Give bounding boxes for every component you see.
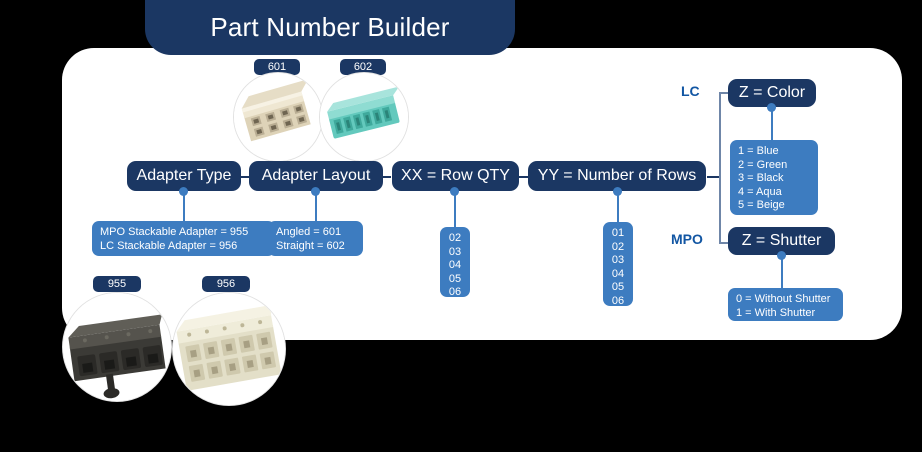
detail-adapter-type: MPO Stackable Adapter = 955 LC Stackable… xyxy=(92,221,275,256)
page-title: Part Number Builder xyxy=(210,12,449,43)
flow-connector-2 xyxy=(382,176,391,178)
flow-drop-line-4 xyxy=(617,191,619,222)
branch-label: Z = Shutter xyxy=(742,232,822,250)
badge-956: 956 xyxy=(202,276,250,292)
photo-955 xyxy=(62,292,172,402)
branch-side-label-mpo: MPO xyxy=(671,231,703,247)
branch-side-label-lc: LC xyxy=(681,83,700,99)
photo-602 xyxy=(319,72,409,162)
branch-bracket-vertical xyxy=(719,92,721,244)
photo-956 xyxy=(172,292,286,406)
flow-step-label: YY = Number of Rows xyxy=(538,167,696,185)
flow-step-label: Adapter Layout xyxy=(262,167,371,185)
flow-connector-1 xyxy=(240,176,249,178)
detail-color-options: 1 = Blue 2 = Green 3 = Black 4 = Aqua 5 … xyxy=(730,140,818,215)
flow-drop-line-1 xyxy=(183,191,185,221)
beige-angled-adapter-icon xyxy=(234,73,322,161)
branch-label: Z = Color xyxy=(739,84,805,102)
flow-drop-line-3 xyxy=(454,191,456,227)
detail-adapter-layout: Angled = 601 Straight = 602 xyxy=(268,221,363,256)
diagram-canvas: Part Number Builder 601 xyxy=(0,0,922,452)
flow-connector-3 xyxy=(519,176,528,178)
flow-step-label: Adapter Type xyxy=(137,167,232,185)
flow-step-label: XX = Row QTY xyxy=(401,167,510,185)
branch-drop-line-lc xyxy=(771,107,773,140)
flow-drop-line-2 xyxy=(315,191,317,221)
detail-shutter-options: 0 = Without Shutter 1 = With Shutter xyxy=(728,288,843,321)
branch-drop-line-mpo xyxy=(781,255,783,288)
beige-lc-stackable-adapter-icon xyxy=(173,293,285,405)
title-tab: Part Number Builder xyxy=(145,0,515,55)
black-mpo-stackable-adapter-icon xyxy=(63,293,171,401)
badge-955: 955 xyxy=(93,276,141,292)
flow-connector-4 xyxy=(707,176,719,178)
detail-number-of-rows: 01 02 03 04 05 06 xyxy=(603,222,633,306)
detail-row-qty: 02 03 04 05 06 xyxy=(440,227,470,297)
aqua-straight-adapter-icon xyxy=(320,73,408,161)
photo-601 xyxy=(233,72,323,162)
